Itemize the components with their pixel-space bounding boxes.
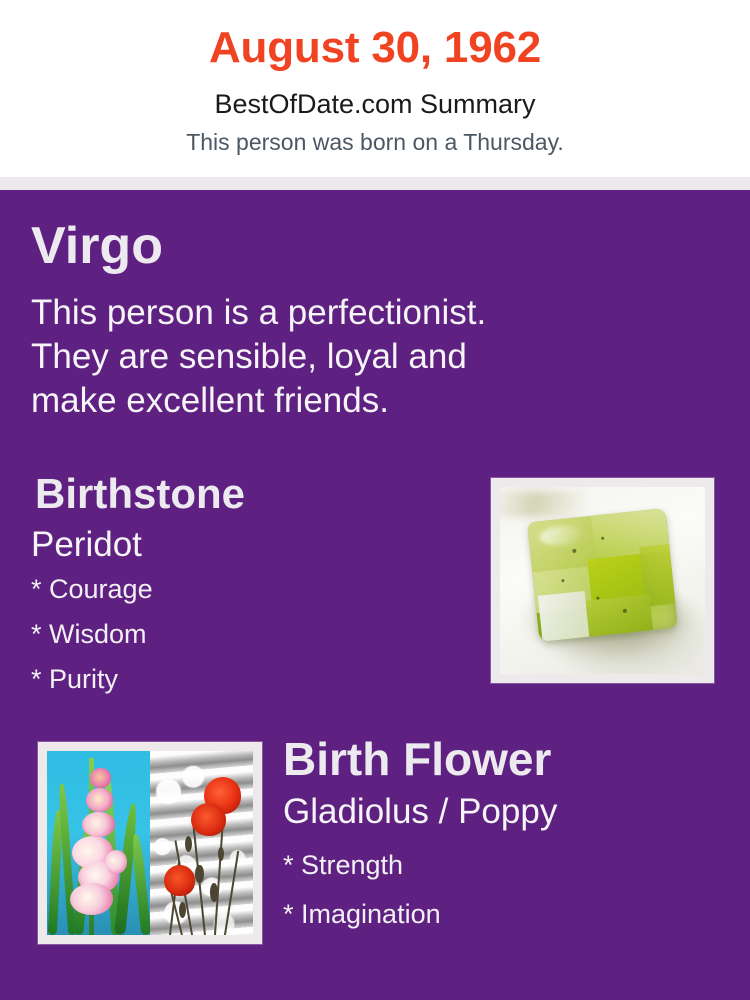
birth-flower-heading: Birth Flower [283,736,551,782]
list-item: * Wisdom [31,621,411,648]
poppy-bud [218,847,224,862]
site-summary-subtitle: BestOfDate.com Summary [0,88,750,120]
gem-inclusion [572,549,576,553]
list-item: * Purity [31,666,411,693]
birth-flower-traits-list: * Strength * Imagination [283,852,683,950]
gladiolus-bloom [70,883,113,914]
poppy-bloom [164,865,195,896]
poppy-photo-half [150,751,253,935]
birthstone-name: Peridot [31,527,142,562]
birthstone-heading: Birthstone [35,473,245,515]
summary-panel: Virgo This person is a perfectionist. Th… [0,190,750,1000]
list-item: * Courage [31,576,411,603]
gladiolus-photo-half [47,751,150,935]
foliage-blade [130,834,150,935]
poppy-bud [210,883,218,901]
list-item: * Imagination [283,901,683,928]
poppy-bloom [191,803,226,836]
flower-composite [47,751,253,935]
birthstone-traits-list: * Courage * Wisdom * Purity [31,576,411,711]
page-title: August 30, 1962 [0,24,750,72]
gladiolus-bloom [82,812,115,838]
birth-flower-name: Gladiolus / Poppy [283,794,557,829]
header-divider [0,177,750,190]
birthstone-image-frame [491,478,714,683]
born-day-text: This person was born on a Thursday. [0,129,750,157]
peridot-gemstone-image [500,487,705,674]
gem-inclusion [561,579,564,582]
gem-facet [586,594,654,636]
poppy-bud [179,902,186,919]
peridot-backdrop-smudge [500,491,586,517]
birth-flower-image-frame [38,742,262,944]
page-header: August 30, 1962 BestOfDate.com Summary T… [0,0,750,177]
gem-facet [537,591,589,641]
poppy-bud [195,865,203,883]
peridot-crystal [527,508,678,642]
zodiac-sign-name: Virgo [31,220,163,272]
zodiac-description: This person is a perfectionist. They are… [31,291,691,423]
poppy-stem [224,851,239,935]
gladiolus-poppy-image [47,751,253,935]
list-item: * Strength [283,852,683,879]
gem-inclusion [601,536,604,539]
poppy-bud [185,836,192,853]
peridot-backdrop [500,487,705,674]
bestofdate-summary-card: August 30, 1962 BestOfDate.com Summary T… [0,0,750,1000]
gladiolus-bloom [90,768,111,788]
gladiolus-bloom [86,788,113,812]
